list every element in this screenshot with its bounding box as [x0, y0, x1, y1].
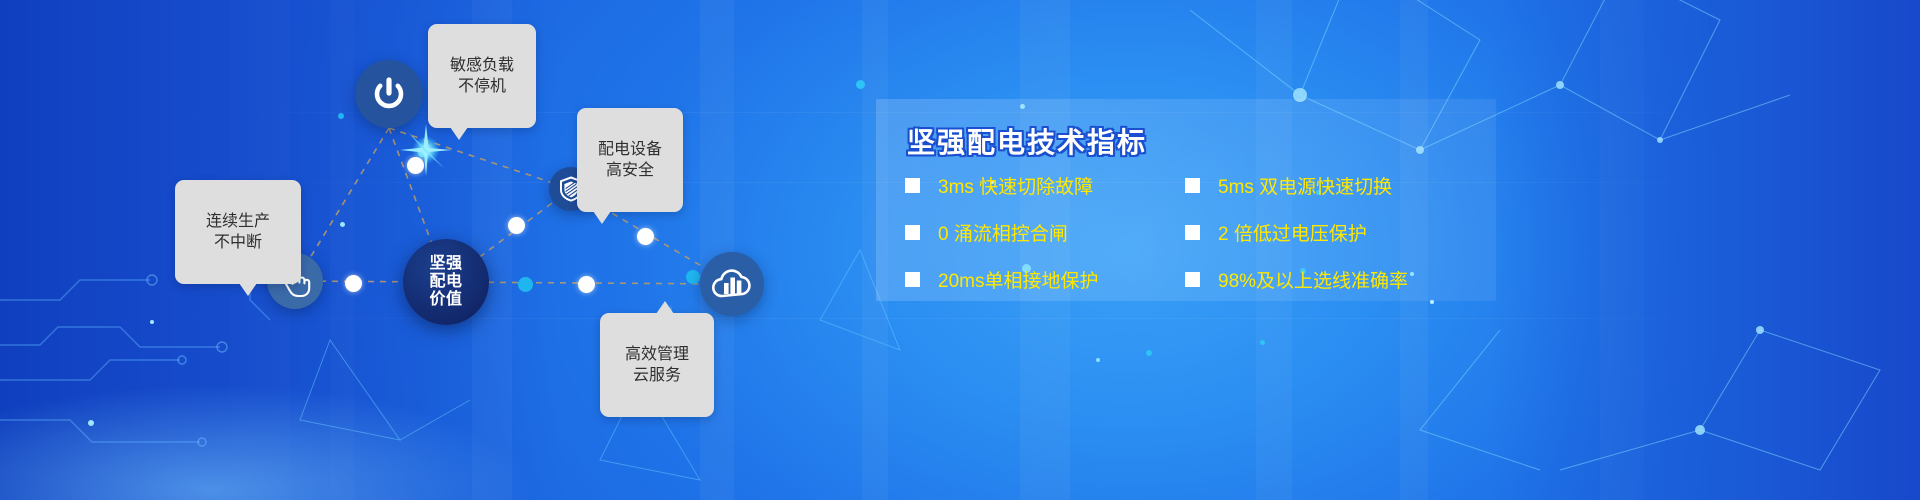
callout-continuous-production[interactable]: 连续生产 不中断	[175, 180, 301, 284]
spec-label: 3ms 快速切除故障	[938, 172, 1093, 199]
background-right-fade	[1490, 0, 1920, 500]
value-diagram: 坚强 配电 价值 敏感负载 不停机 配电设备 高安全 连续生产 不中断 高效管理…	[0, 0, 880, 500]
path-dot	[345, 275, 362, 292]
path-dot-accent	[686, 270, 700, 284]
spec-label: 20ms单相接地保护	[938, 266, 1098, 293]
callout-text: 敏感负载 不停机	[450, 57, 514, 95]
spec-label: 2 倍低过电压保护	[1218, 219, 1367, 246]
square-bullet-icon	[905, 272, 920, 287]
spec-label: 5ms 双电源快速切换	[1218, 172, 1392, 199]
center-hub-line-3: 价值	[429, 291, 462, 309]
bg-dot	[1260, 340, 1265, 345]
center-hub-line-2: 配电	[429, 273, 462, 291]
callout-cloud-management[interactable]: 高效管理 云服务	[600, 313, 714, 417]
path-dot-accent	[338, 113, 344, 119]
path-dot	[578, 276, 595, 293]
panel-title: 坚强配电技术指标	[907, 121, 1147, 161]
callout-tail	[239, 283, 257, 296]
bg-dot	[1146, 350, 1152, 356]
callout-equipment-safety[interactable]: 配电设备 高安全	[577, 108, 683, 212]
callout-tail	[656, 301, 674, 314]
callout-text: 连续生产 不中断	[206, 213, 270, 251]
spec-item-98-percent[interactable]: 98%及以上选线准确率	[1185, 266, 1465, 293]
node-power[interactable]	[355, 60, 423, 128]
spec-item-0-inrush[interactable]: 0 涌流相控合闸	[905, 219, 1185, 246]
center-hub[interactable]: 坚强 配电 价值	[403, 239, 489, 325]
spec-item-20ms[interactable]: 20ms单相接地保护	[905, 266, 1185, 293]
callout-text: 高效管理 云服务	[625, 346, 689, 384]
bg-dot	[1096, 358, 1100, 362]
path-dot	[637, 228, 654, 245]
banner-stage: 坚强 配电 价值 敏感负载 不停机 配电设备 高安全 连续生产 不中断 高效管理…	[0, 0, 1920, 500]
node-cloud-analytics[interactable]	[700, 252, 764, 316]
spec-item-2x-voltage[interactable]: 2 倍低过电压保护	[1185, 219, 1465, 246]
square-bullet-icon	[1185, 272, 1200, 287]
square-bullet-icon	[905, 225, 920, 240]
spec-item-3ms[interactable]: 3ms 快速切除故障	[905, 172, 1185, 199]
path-dot	[407, 157, 424, 174]
callout-text: 配电设备 高安全	[598, 141, 662, 179]
callout-tail	[450, 127, 468, 140]
square-bullet-icon	[1185, 178, 1200, 193]
callout-sensitive-load[interactable]: 敏感负载 不停机	[428, 24, 536, 128]
spec-label: 98%及以上选线准确率	[1218, 266, 1408, 293]
cloud-chart-icon	[710, 264, 754, 304]
square-bullet-icon	[905, 178, 920, 193]
square-bullet-icon	[1185, 225, 1200, 240]
center-hub-line-1: 坚强	[429, 255, 462, 273]
spec-label: 0 涌流相控合闸	[938, 219, 1068, 246]
spec-item-5ms[interactable]: 5ms 双电源快速切换	[1185, 172, 1465, 199]
power-icon	[369, 74, 409, 114]
callout-tail	[593, 211, 611, 224]
spec-list: 3ms 快速切除故障 5ms 双电源快速切换 0 涌流相控合闸 2 倍低过电压保…	[905, 172, 1505, 293]
path-dot-accent	[518, 277, 533, 292]
path-dot	[508, 217, 525, 234]
